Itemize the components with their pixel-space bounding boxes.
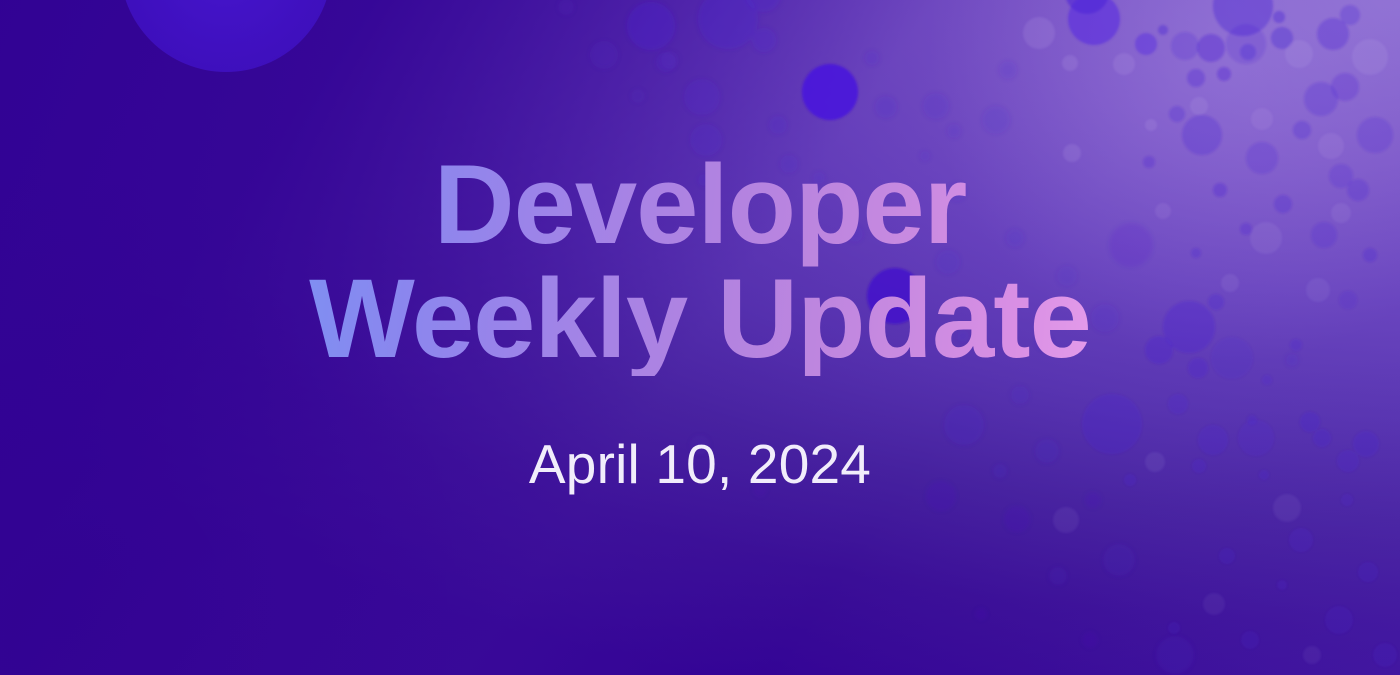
page-title: Developer Weekly Update bbox=[309, 148, 1091, 376]
developer-weekly-update-banner: Developer Weekly Update April 10, 2024 bbox=[0, 0, 1400, 675]
title-line-1: Developer bbox=[309, 148, 1091, 262]
title-line-2: Weekly Update bbox=[309, 262, 1091, 376]
banner-content: Developer Weekly Update April 10, 2024 bbox=[0, 0, 1400, 675]
issue-date: April 10, 2024 bbox=[529, 432, 871, 496]
